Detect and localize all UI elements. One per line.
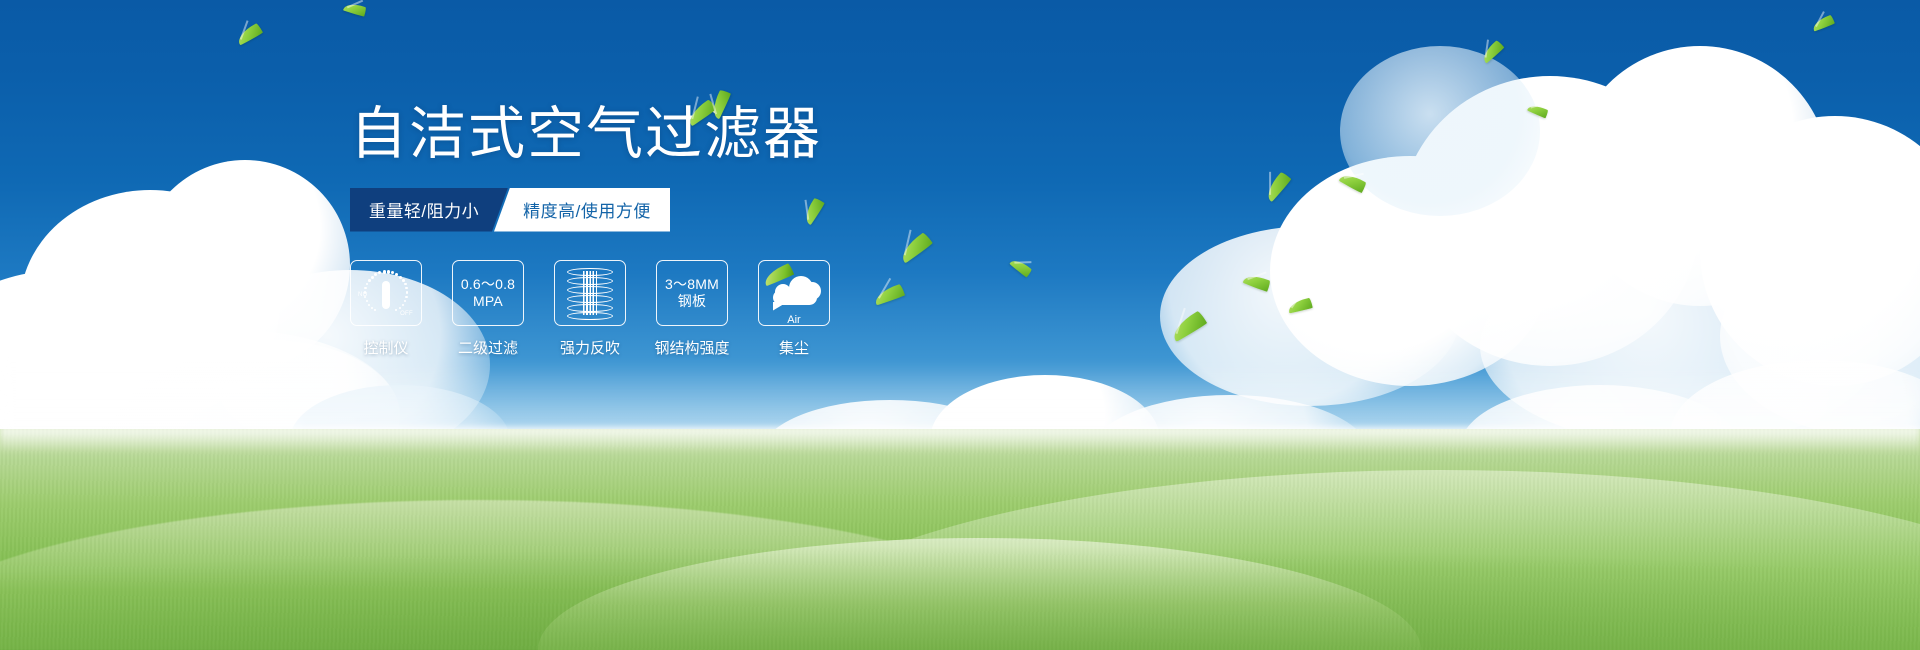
badge-precision-convenience: 精度高/使用方便: [494, 188, 670, 232]
cloud-air-icon: Air: [767, 272, 821, 314]
feature-box-text: 0.6～0.8 MPA: [461, 276, 515, 310]
feature-label: 控制仪: [363, 337, 408, 358]
feature-label: 集尘: [779, 337, 809, 358]
feature-item-two-stage-filter: 0.6～0.8 MPA 二级过滤: [452, 260, 524, 358]
feature-box-text-line: 0.6～0.8: [461, 276, 515, 293]
feature-icon-box: Air: [758, 260, 830, 326]
feature-item-strong-blowback: 强力反吹: [554, 260, 626, 358]
feature-label: 强力反吹: [560, 337, 620, 358]
feature-list: NO OFF 控制仪 0.6～0.8 MPA 二级过滤: [350, 260, 970, 358]
stacked-discs-icon: [567, 268, 613, 318]
gauge-dial-icon: NO OFF: [359, 268, 413, 318]
feature-icon-box: NO OFF: [350, 260, 422, 326]
gauge-off-mark: OFF: [400, 311, 413, 317]
feature-box-text-line: 钢板: [665, 293, 719, 310]
grass-horizon-glow: [0, 427, 1920, 453]
feature-item-dust-collection: Air 集尘: [758, 260, 830, 358]
feature-box-text: 3～8MM 钢板: [665, 276, 719, 310]
hero-banner: 自洁式空气过滤器 重量轻/阻力小 精度高/使用方便 NO O: [0, 0, 1920, 650]
feature-box-text-line: 3～8MM: [665, 276, 719, 293]
tagline-badges: 重量轻/阻力小 精度高/使用方便: [350, 188, 672, 232]
page-title: 自洁式空气过滤器: [350, 104, 970, 166]
feature-item-steel-strength: 3～8MM 钢板 钢结构强度: [656, 260, 728, 358]
badge-label: 重量轻/阻力小: [369, 197, 479, 222]
feature-box-text-line: MPA: [461, 293, 515, 310]
feature-label: 二级过滤: [458, 337, 518, 358]
badge-label: 精度高/使用方便: [523, 197, 651, 222]
feature-label: 钢结构强度: [655, 337, 730, 358]
feature-icon-box: 0.6～0.8 MPA: [452, 260, 524, 326]
hero-content: 自洁式空气过滤器 重量轻/阻力小 精度高/使用方便 NO O: [350, 104, 970, 358]
badge-weight-resistance: 重量轻/阻力小: [350, 188, 508, 232]
feature-icon-box: [554, 260, 626, 326]
feature-item-controller: NO OFF 控制仪: [350, 260, 422, 358]
gauge-no-mark: NO: [358, 292, 368, 298]
title-leaf-decoration: [680, 92, 740, 126]
air-label: Air: [767, 314, 821, 326]
feature-icon-box: 3～8MM 钢板: [656, 260, 728, 326]
grass-field: [0, 429, 1920, 650]
